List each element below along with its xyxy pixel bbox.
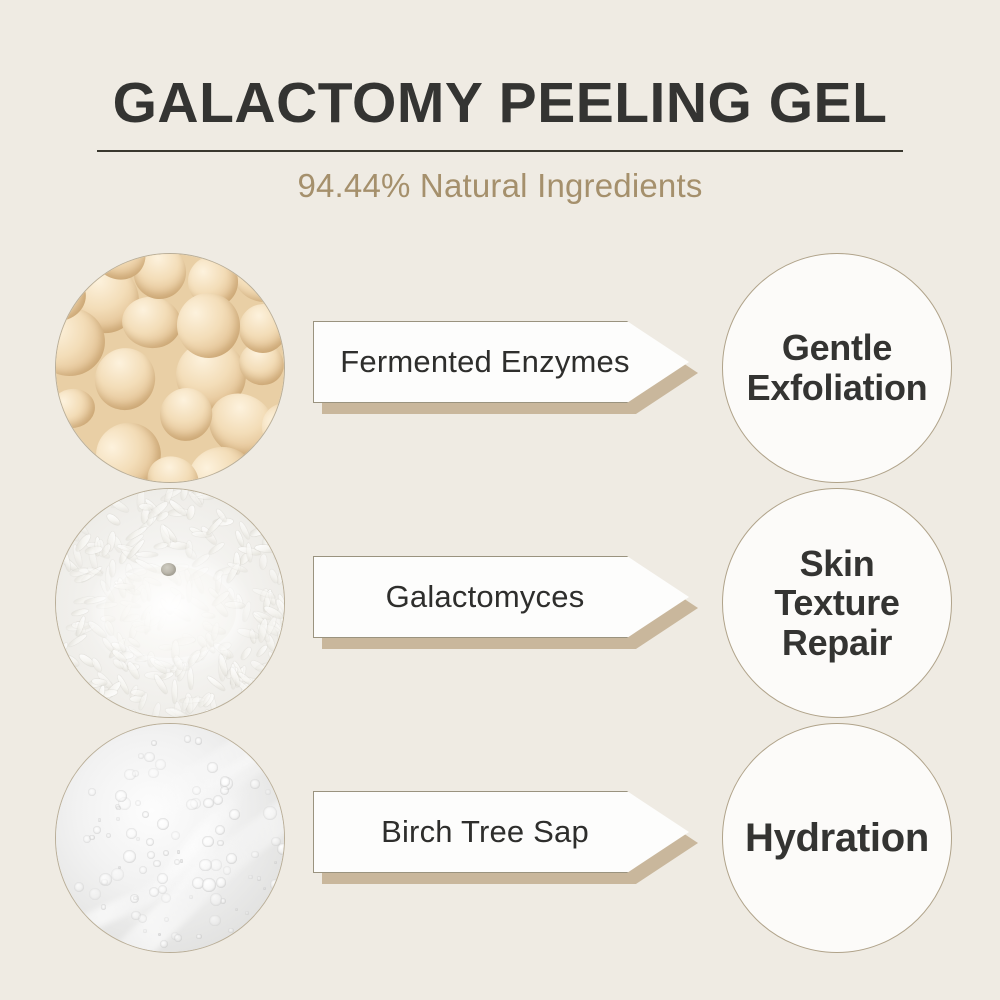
gel-bubble [228, 928, 234, 934]
gel-bubble [203, 798, 214, 809]
rice-grain [189, 668, 194, 690]
rice-grain [154, 542, 169, 550]
birch-sap-gel-photo [55, 723, 285, 953]
gel-bubble [180, 859, 184, 863]
page-title: GALACTOMY PEELING GEL [0, 70, 1000, 136]
rice-grain [60, 666, 78, 675]
benefit-label: Skin Texture Repair [768, 544, 905, 663]
banner-face: Fermented Enzymes [313, 321, 689, 403]
gel-bubble [146, 838, 154, 846]
gel-bubble [270, 879, 280, 889]
gel-bubble [217, 840, 223, 846]
rice-grain [186, 540, 192, 557]
rice-grain [172, 680, 177, 704]
benefit-line: Texture [774, 583, 899, 623]
gel-bubble [196, 934, 202, 940]
banner-face: Galactomyces [313, 556, 689, 638]
banner-face: Birch Tree Sap [313, 791, 689, 873]
benefit-label: Gentle Exfoliation [741, 328, 934, 407]
ingredient-banner[interactable]: Fermented Enzymes [313, 321, 698, 419]
gel-bubble [220, 776, 230, 786]
gel-bubble [186, 799, 198, 811]
ingredient-label: Fermented Enzymes [340, 344, 629, 380]
gel-bubble [248, 875, 252, 879]
gel-bubble [235, 908, 239, 912]
rice-artwork [56, 489, 284, 717]
ingredient-row: Galactomyces Skin Texture Repair [0, 488, 1000, 720]
rice-grain [266, 504, 276, 526]
benefit-line: Exfoliation [747, 368, 928, 408]
gel-bubble [202, 836, 214, 848]
gel-bubble [189, 895, 193, 899]
gel-bubble [136, 837, 141, 842]
gel-bubble [111, 868, 125, 882]
gel-bubble [99, 873, 112, 886]
benefit-circle[interactable]: Skin Texture Repair [722, 488, 952, 718]
gel-bubble [83, 835, 91, 843]
gel-bubble [116, 817, 120, 821]
gel-bubble [157, 818, 169, 830]
gel-bubble [163, 850, 169, 856]
ingredient-banner[interactable]: Birch Tree Sap [313, 791, 698, 889]
benefit-circle[interactable]: Hydration [722, 723, 952, 953]
gel-bubble [265, 789, 271, 795]
header: GALACTOMY PEELING GEL 94.44% Natural Ing… [0, 0, 1000, 240]
ingredient-row: Birch Tree Sap Hydration [0, 723, 1000, 955]
rice-grain [240, 647, 253, 662]
gel-bubble [161, 893, 171, 903]
gel-bubble [209, 915, 221, 927]
benefit-line: Repair [774, 623, 899, 663]
gel-bubble [118, 866, 121, 869]
rice-grain [151, 702, 161, 718]
page-subtitle: 94.44% Natural Ingredients [0, 167, 1000, 205]
gel-bubble [263, 887, 266, 890]
gel-bubble [126, 828, 137, 839]
gel-bubble [93, 826, 101, 834]
rice-swirl [104, 566, 236, 658]
benefit-circle[interactable]: Gentle Exfoliation [722, 253, 952, 483]
gel-bubble [274, 861, 277, 864]
rice-grain [186, 504, 196, 519]
benefit-label: Hydration [739, 816, 935, 860]
rice-grain [105, 512, 121, 527]
birch-sap-artwork [56, 724, 284, 952]
gel-bubble [143, 929, 147, 933]
gel-bubble [174, 934, 182, 942]
gel-bubble [207, 762, 217, 772]
ingredient-row: Fermented Enzymes Gentle Exfoliation [0, 253, 1000, 485]
gel-bubble [153, 860, 161, 868]
gel-bubble [123, 850, 136, 863]
benefit-line: Gentle [747, 328, 928, 368]
rice-grain [55, 703, 67, 712]
soybeans-artwork [56, 254, 284, 482]
gel-bubble [213, 795, 223, 805]
infographic-page: GALACTOMY PEELING GEL 94.44% Natural Ing… [0, 0, 1000, 1000]
rice-grain [71, 714, 87, 718]
gel-bubble [192, 786, 201, 795]
gel-bubble [160, 940, 168, 948]
rice-grain [259, 554, 267, 569]
gel-bubble [229, 809, 240, 820]
benefit-line: Skin [774, 544, 899, 584]
rice-grain [234, 711, 253, 718]
gel-bubble [88, 788, 96, 796]
rice-grain [91, 657, 104, 673]
gel-bubble [171, 831, 180, 840]
rice-grain [283, 630, 285, 636]
gel-bubble [142, 811, 149, 818]
gel-bubble [132, 770, 139, 777]
gel-bubble [202, 878, 216, 892]
gel-bubble [147, 851, 155, 859]
soybean [55, 386, 98, 432]
gel-bubble [74, 882, 84, 892]
gel-bubble [98, 818, 102, 822]
gel-bubble [250, 779, 260, 789]
rice-grain [136, 552, 158, 557]
gel-bubble [251, 851, 259, 859]
soybeans-photo [55, 253, 285, 483]
gel-bubble [157, 873, 168, 884]
gel-bubble [184, 735, 192, 743]
benefit-line: Hydration [745, 816, 929, 860]
gel-bubble [257, 876, 261, 880]
rice-center-dot [161, 563, 176, 576]
rice-grain [278, 646, 285, 661]
gel-bubble [174, 859, 180, 865]
gel-bubble [245, 911, 249, 915]
gel-bubble [148, 768, 159, 779]
gel-bubble [199, 859, 211, 871]
rice-grain [62, 677, 72, 695]
rice-grain [109, 560, 116, 577]
rice-grain [254, 492, 275, 505]
rice-grain [249, 659, 267, 674]
gel-bubble [158, 885, 167, 894]
gel-bubble [139, 866, 147, 874]
ingredient-label: Birch Tree Sap [381, 814, 589, 850]
rice-galactomyces-photo [55, 488, 285, 718]
gel-bubble [89, 888, 102, 901]
gel-bubble [106, 833, 112, 839]
gel-bubble [151, 740, 157, 746]
gel-bubble [216, 877, 226, 887]
rice-grain [237, 627, 261, 640]
ingredient-label: Galactomyces [386, 579, 585, 615]
ingredient-banner[interactable]: Galactomyces [313, 556, 698, 654]
gel-bubble [144, 752, 155, 763]
gel-bubble [210, 893, 223, 906]
gel-bubble [116, 806, 121, 811]
title-divider [97, 150, 903, 152]
rice-grain [246, 543, 252, 562]
gel-bubble [133, 896, 138, 901]
rice-grain [61, 488, 75, 497]
rice-grain [63, 653, 81, 668]
rice-grain [71, 608, 88, 616]
gel-bubble [135, 800, 141, 806]
rice-grain [256, 644, 269, 658]
rice-grain [180, 488, 189, 501]
gel-bubble [195, 737, 203, 745]
